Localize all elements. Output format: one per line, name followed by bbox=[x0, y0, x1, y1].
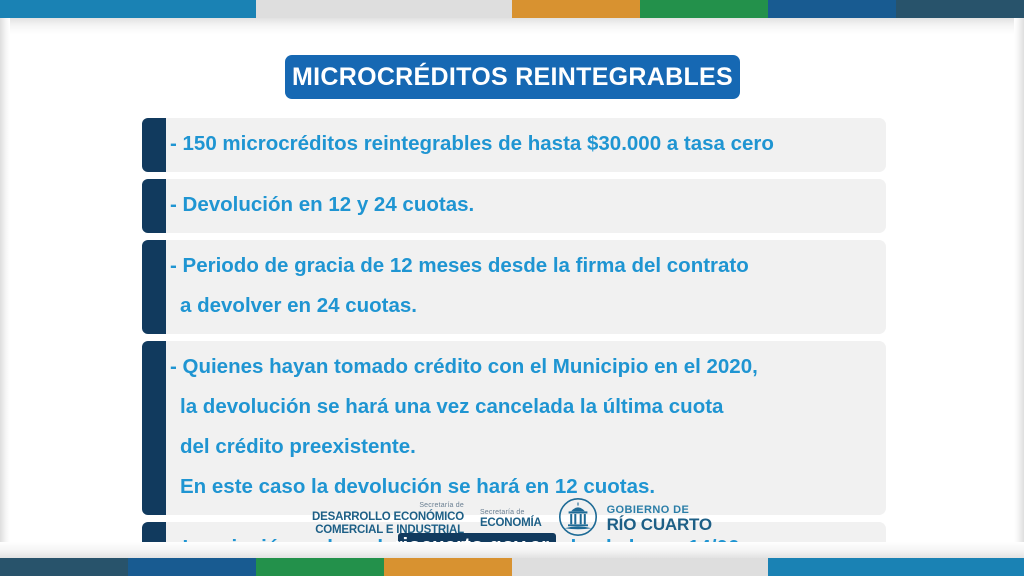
bullet-accent-bar bbox=[142, 240, 166, 334]
logo-economia: Secretaría de ECONOMÍA bbox=[480, 509, 542, 531]
bullet-line: - 150 microcréditos reintegrables de has… bbox=[180, 124, 876, 164]
segment-slate bbox=[0, 558, 128, 576]
slide-title-banner: MICROCRÉDITOS REINTEGRABLES bbox=[285, 55, 740, 99]
presentation-slide: MICROCRÉDITOS REINTEGRABLES - 150 microc… bbox=[0, 0, 1024, 576]
segment-gap bbox=[256, 0, 512, 18]
bullet-line: - Devolución en 12 y 24 cuotas. bbox=[180, 185, 876, 225]
segment-orange bbox=[512, 0, 640, 18]
gobierno-text-block: GOBIERNO DE RÍO CUARTO bbox=[607, 504, 712, 535]
logo-gobierno-rio-cuarto: GOBIERNO DE RÍO CUARTO bbox=[558, 497, 712, 542]
bullet-line: la devolución se hará una vez cancelada … bbox=[180, 387, 876, 427]
segment-gap bbox=[512, 558, 768, 576]
logo-economia-kicker: Secretaría de bbox=[480, 509, 542, 518]
rotunda-emblem-icon bbox=[558, 497, 598, 542]
bullet-body: - Quienes hayan tomado crédito con el Mu… bbox=[166, 341, 886, 515]
page-title: MICROCRÉDITOS REINTEGRABLES bbox=[292, 63, 733, 92]
page-edge-left bbox=[0, 18, 10, 558]
segment-steel-blue bbox=[128, 558, 256, 576]
bullet-row: - Quienes hayan tomado crédito con el Mu… bbox=[142, 341, 886, 515]
page-shade-top bbox=[0, 18, 1024, 34]
bullet-accent-bar bbox=[142, 179, 166, 233]
bullet-accent-bar bbox=[142, 118, 166, 172]
logo-desarrollo-economico: Secretaría de DESARROLLO ECONÓMICO COMER… bbox=[312, 502, 464, 537]
bullet-line: - Quienes hayan tomado crédito con el Mu… bbox=[180, 347, 876, 387]
footer-logos: Secretaría de DESARROLLO ECONÓMICO COMER… bbox=[0, 497, 1024, 542]
top-color-bar bbox=[0, 0, 1024, 18]
bullet-body: - Devolución en 12 y 24 cuotas. bbox=[166, 179, 886, 233]
bullet-accent-bar bbox=[142, 341, 166, 515]
segment-orange bbox=[384, 558, 512, 576]
bullet-row: - Devolución en 12 y 24 cuotas. bbox=[142, 179, 886, 233]
bullet-body: - Periodo de gracia de 12 meses desde la… bbox=[166, 240, 886, 334]
logo-desarrollo-kicker: Secretaría de bbox=[312, 502, 464, 511]
bullet-line: - Periodo de gracia de 12 meses desde la… bbox=[180, 246, 876, 286]
logo-economia-line1: ECONOMÍA bbox=[480, 517, 542, 530]
bullet-line: del crédito preexistente. bbox=[180, 427, 876, 467]
segment-green bbox=[640, 0, 768, 18]
bullet-row: - 150 microcréditos reintegrables de has… bbox=[142, 118, 886, 172]
logo-desarrollo-line2: COMERCIAL E INDUSTRIAL bbox=[312, 524, 464, 537]
segment-steel-blue bbox=[768, 0, 896, 18]
bullet-body: - 150 microcréditos reintegrables de has… bbox=[166, 118, 886, 172]
segment-teal bbox=[768, 558, 1024, 576]
segment-slate bbox=[896, 0, 1024, 18]
segment-teal bbox=[0, 0, 256, 18]
bottom-color-bar bbox=[0, 558, 1024, 576]
bullet-row: - Periodo de gracia de 12 meses desde la… bbox=[142, 240, 886, 334]
gobierno-main: RÍO CUARTO bbox=[607, 516, 712, 535]
bullet-line: a devolver en 24 cuotas. bbox=[180, 286, 876, 326]
page-edge-right bbox=[1014, 18, 1024, 558]
segment-green bbox=[256, 558, 384, 576]
logo-desarrollo-line1: DESARROLLO ECONÓMICO bbox=[312, 511, 464, 524]
